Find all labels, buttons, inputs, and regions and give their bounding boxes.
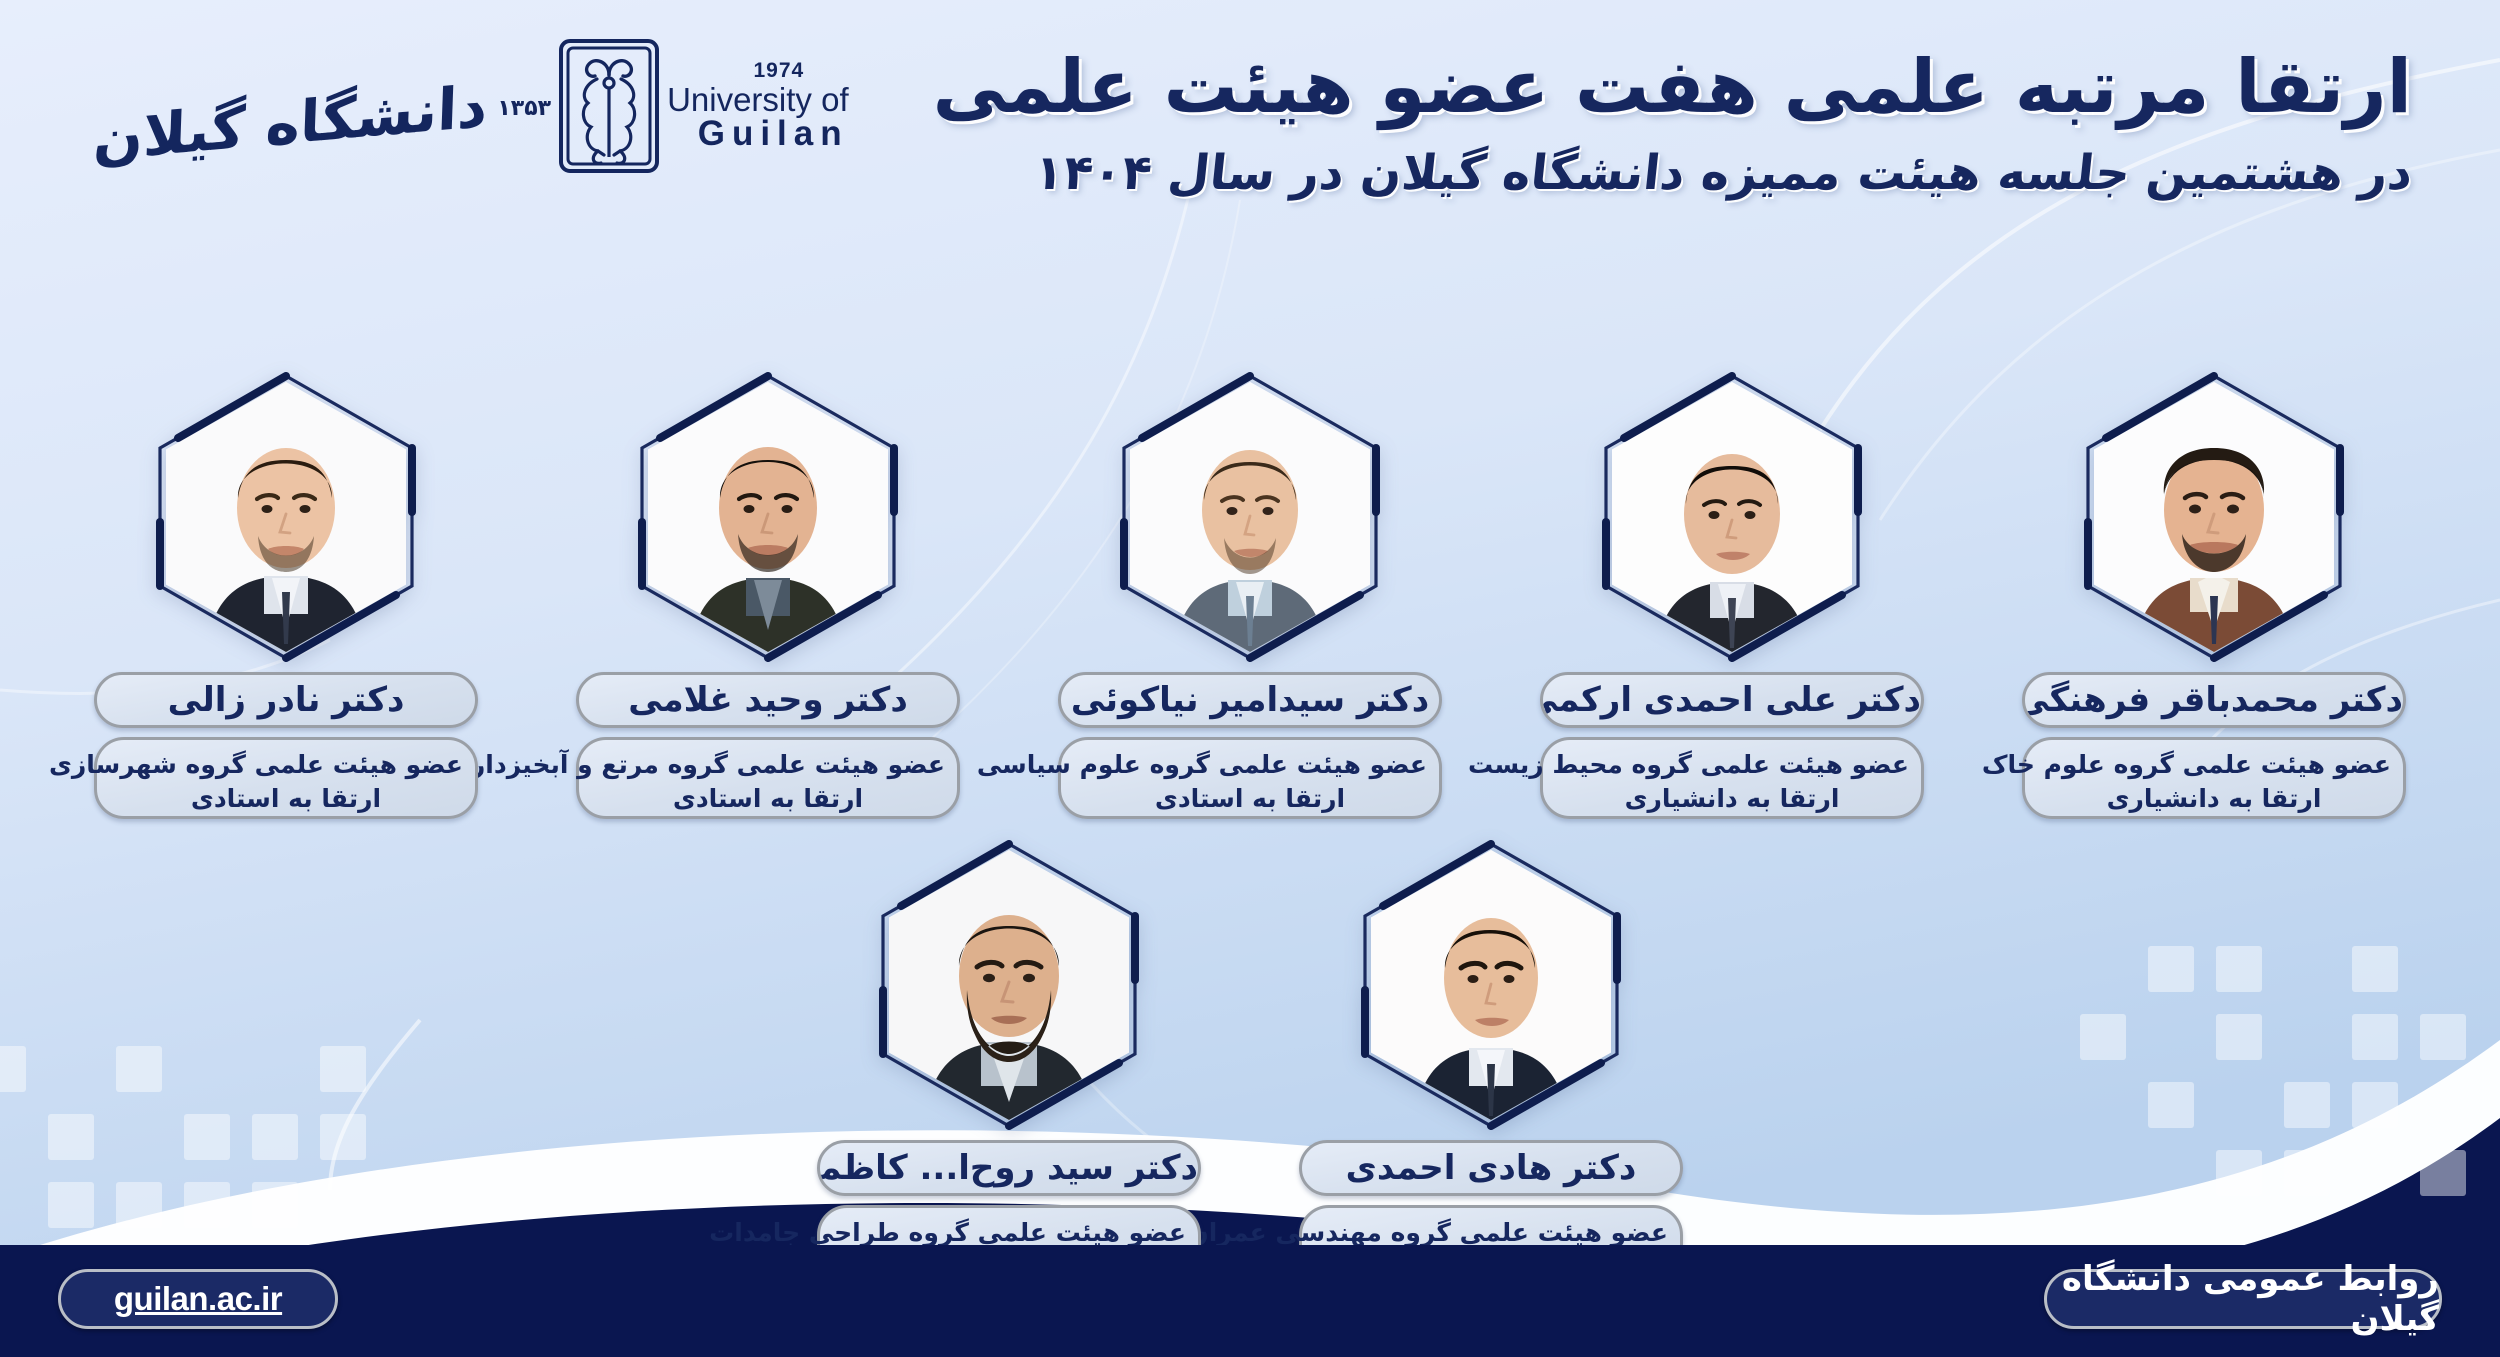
hexagon-outline [2084, 372, 2344, 662]
portrait-hexagon [879, 840, 1139, 1130]
person-card: دکتر علی احمدی ارکمی عضو هیئت علمی گروه … [1530, 372, 1934, 819]
person-name: دکتر هادی احمدی [1299, 1140, 1683, 1196]
people-row-bottom: دکتر هادی احمدی عضو هیئت علمی گروه مهندس… [0, 840, 2500, 1287]
portrait-hexagon [156, 372, 416, 662]
person-department: عضو هیئت علمی گروه محیط زیست [1555, 748, 1909, 782]
logo-founding-year-fa: ۱۳۵۳ [497, 96, 551, 121]
guilan-emblem-icon [557, 37, 661, 175]
logo-founding-year-en: 1974 [667, 60, 849, 81]
person-name: دکتر سیدامیر نیاکوئی [1058, 672, 1442, 728]
logo-english-text: 1974 University of Guilan [667, 60, 849, 152]
university-logo: 1974 University of Guilan ۱۳۵۳ دانشگاه گ… [96, 36, 849, 176]
person-promotion: ارتقا به دانشیاری [2037, 782, 2391, 816]
person-department: عضو هیئت علمی گروه علوم سیاسی [1073, 748, 1427, 782]
person-name: دکتر محمدباقر فرهنگی [2022, 672, 2406, 728]
portrait-hexagon [1602, 372, 1862, 662]
person-promotion: ارتقا به استادی [1073, 782, 1427, 816]
person-role: عضو هیئت علمی گروه شهرسازی ارتقا به استا… [94, 737, 478, 819]
portrait-hexagon [1120, 372, 1380, 662]
portrait-hexagon [2084, 372, 2344, 662]
person-department: عضو هیئت علمی گروه مرتع و آبخیزداری [591, 748, 945, 782]
logo-university-word: University of [667, 83, 849, 117]
person-role: عضو هیئت علمی گروه مرتع و آبخیزداری ارتق… [576, 737, 960, 819]
person-role: عضو هیئت علمی گروه محیط زیست ارتقا به دا… [1540, 737, 1924, 819]
person-promotion: ارتقا به استادی [591, 782, 945, 816]
public-relations-badge: روابط عمومی دانشگاه گیلان [2044, 1269, 2442, 1329]
person-card: دکتر وحید غلامی عضو هیئت علمی گروه مرتع … [566, 372, 970, 819]
person-card: دکتر محمدباقر فرهنگی عضو هیئت علمی گروه … [2012, 372, 2416, 819]
people-row-top: دکتر محمدباقر فرهنگی عضو هیئت علمی گروه … [0, 372, 2500, 819]
logo-university-name-fa: دانشگاه گیلان [92, 72, 488, 174]
person-promotion: ارتقا به استادی [109, 782, 463, 816]
hexagon-outline [156, 372, 416, 662]
person-name: دکتر نادر زالی [94, 672, 478, 728]
person-card: دکتر نادر زالی عضو هیئت علمی گروه شهرساز… [84, 372, 488, 819]
person-card: دکتر سید روح‌ا... کاظمی عضو هیئت علمی گر… [807, 840, 1211, 1287]
portrait-hexagon [1361, 840, 1621, 1130]
person-name: دکتر سید روح‌ا... کاظمی [817, 1140, 1201, 1196]
footer-bar: guilan.ac.ir روابط عمومی دانشگاه گیلان [0, 1245, 2500, 1357]
hexagon-outline [638, 372, 898, 662]
poster-canvas: 1974 University of Guilan ۱۳۵۳ دانشگاه گ… [0, 0, 2500, 1357]
hexagon-outline [879, 840, 1139, 1130]
person-department: عضو هیئت علمی گروه علوم خاک [2037, 748, 2391, 782]
page-title: ارتقا مرتبه علمی هفت عضو هیئت علمی [933, 46, 2412, 129]
poster-heading: ارتقا مرتبه علمی هفت عضو هیئت علمی در هش… [933, 46, 2412, 201]
person-role: عضو هیئت علمی گروه علوم سیاسی ارتقا به ا… [1058, 737, 1442, 819]
person-card: دکتر سیدامیر نیاکوئی عضو هیئت علمی گروه … [1048, 372, 1452, 819]
person-role: عضو هیئت علمی گروه علوم خاک ارتقا به دان… [2022, 737, 2406, 819]
hexagon-outline [1120, 372, 1380, 662]
page-subtitle: در هشتمین جلسه هیئت ممیزه دانشگاه گیلان … [930, 145, 2415, 201]
website-link-badge[interactable]: guilan.ac.ir [58, 1269, 338, 1329]
person-department: عضو هیئت علمی گروه شهرسازی [109, 748, 463, 782]
person-promotion: ارتقا به دانشیاری [1555, 782, 1909, 816]
hexagon-outline [1361, 840, 1621, 1130]
portrait-hexagon [638, 372, 898, 662]
person-card: دکتر هادی احمدی عضو هیئت علمی گروه مهندس… [1289, 840, 1693, 1287]
logo-guilan-word: Guilan [667, 116, 849, 152]
person-name: دکتر علی احمدی ارکمی [1540, 672, 1924, 728]
hexagon-outline [1602, 372, 1862, 662]
person-name: دکتر وحید غلامی [576, 672, 960, 728]
logo-persian-text: ۱۳۵۳ دانشگاه گیلان [96, 72, 551, 140]
